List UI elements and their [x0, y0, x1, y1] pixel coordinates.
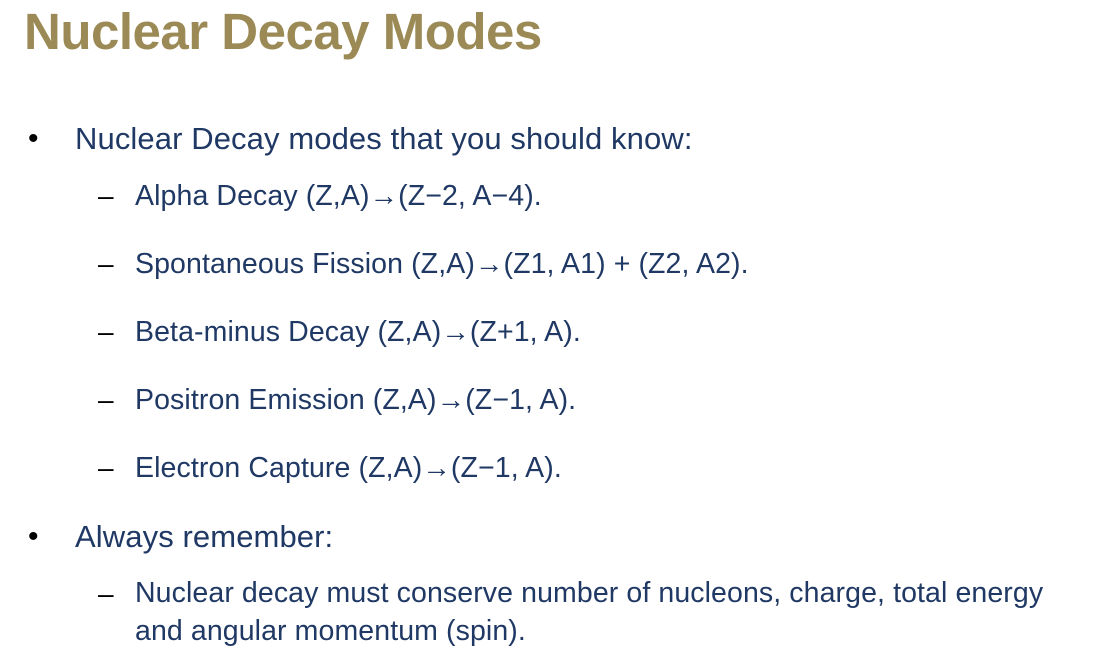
bullet-dot-icon: • [28, 118, 48, 160]
list-item-label: Nuclear Decay modes that you should know… [75, 118, 1118, 160]
bullet-dot-icon: • [28, 516, 48, 558]
bullet-dash-icon: – [98, 574, 122, 614]
list-item-label: Positron Emission (Z,A)→(Z−1, A). [135, 380, 1118, 420]
slide-canvas: Nuclear Decay Modes • Nuclear Decay mode… [0, 0, 1118, 663]
page-title: Nuclear Decay Modes [24, 2, 1094, 62]
bullet-dash-icon: – [98, 380, 122, 420]
list-item: – Spontaneous Fission (Z,A)→(Z1, A1) + (… [0, 244, 1118, 284]
list-item-label: Electron Capture (Z,A)→(Z−1, A). [135, 448, 1118, 488]
bullet-dash-icon: – [98, 312, 122, 352]
bullet-dash-icon: – [98, 244, 122, 284]
list-item: – Beta-minus Decay (Z,A)→(Z+1, A). [0, 312, 1118, 352]
bullet-dash-icon: – [98, 448, 122, 488]
list-item: – Alpha Decay (Z,A)→(Z−2, A−4). [0, 176, 1118, 216]
list-item: • Nuclear Decay modes that you should kn… [0, 118, 1118, 162]
list-item: – Positron Emission (Z,A)→(Z−1, A). [0, 380, 1118, 420]
list-item: – Nuclear decay must conserve number of … [0, 574, 1118, 650]
list-item-label: Always remember: [75, 516, 1118, 558]
list-item-label: Spontaneous Fission (Z,A)→(Z1, A1) + (Z2… [135, 244, 1118, 284]
list-item-label: Nuclear decay must conserve number of nu… [135, 574, 1095, 650]
list-item: • Always remember: [0, 516, 1118, 560]
list-item-label: Beta-minus Decay (Z,A)→(Z+1, A). [135, 312, 1118, 352]
list-item: – Electron Capture (Z,A)→(Z−1, A). [0, 448, 1118, 488]
list-item-label: Alpha Decay (Z,A)→(Z−2, A−4). [135, 176, 1118, 216]
bullet-dash-icon: – [98, 176, 122, 216]
bullet-list: • Nuclear Decay modes that you should kn… [0, 118, 1118, 650]
